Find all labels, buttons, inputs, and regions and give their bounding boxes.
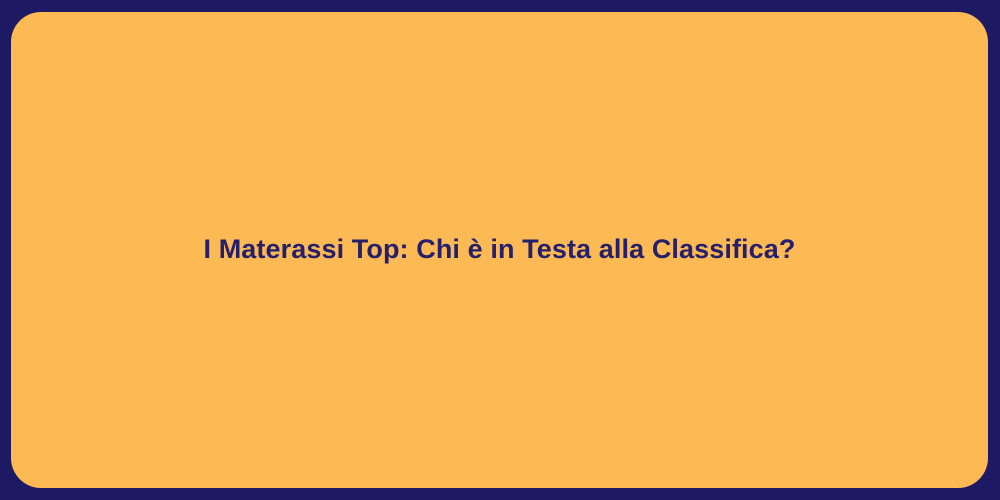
page-title: I Materassi Top: Chi è in Testa alla Cla… bbox=[180, 233, 820, 267]
page-frame: I Materassi Top: Chi è in Testa alla Cla… bbox=[0, 0, 1000, 500]
hero-panel: I Materassi Top: Chi è in Testa alla Cla… bbox=[11, 12, 988, 488]
